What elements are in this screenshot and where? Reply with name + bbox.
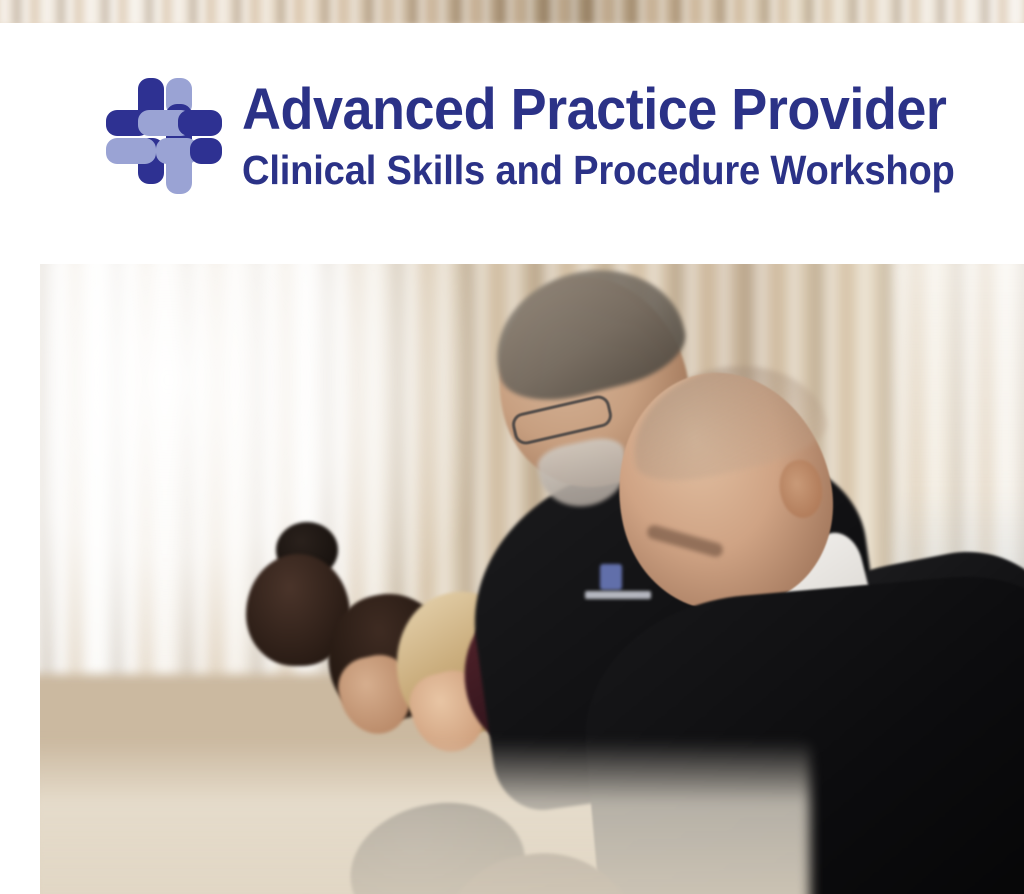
workshop-photo: Ivan Mustafa, APRN Emergency Medicine 2 … <box>40 264 1024 894</box>
blurred-curtain-texture <box>0 0 1024 23</box>
wordmark: Advanced Practice Provider Clinical Skil… <box>242 81 1008 191</box>
top-photo-strip <box>0 0 1024 23</box>
brand-header: Advanced Practice Provider Clinical Skil… <box>0 23 1024 248</box>
page-title: Advanced Practice Provider <box>242 81 955 139</box>
brand-lockup: Advanced Practice Provider Clinical Skil… <box>104 76 1008 196</box>
table-surface <box>40 740 810 894</box>
interlocking-cross-logo-icon <box>104 76 224 196</box>
course-promo-banner: Advanced Practice Provider Clinical Skil… <box>0 0 1024 894</box>
scrub-chest-logo-text <box>585 591 651 599</box>
page-subtitle: Clinical Skills and Procedure Workshop <box>242 150 955 191</box>
scrub-chest-logo <box>600 564 622 590</box>
